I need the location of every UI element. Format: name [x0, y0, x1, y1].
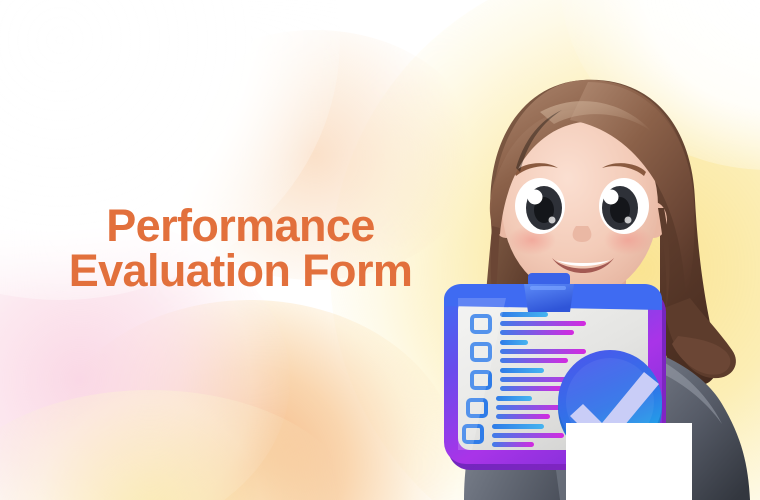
background-blob-orange-bottom	[40, 300, 460, 500]
clipboard-clip	[524, 273, 574, 312]
eye-left	[515, 178, 565, 234]
poster-canvas: Performance Evaluation Form	[0, 0, 760, 500]
image-crop-artifact	[566, 423, 692, 500]
nose	[573, 226, 592, 242]
background-blob-yellow-bottom	[0, 390, 360, 500]
page-title: Performance Evaluation Form	[18, 203, 463, 293]
eye-right	[599, 178, 649, 234]
